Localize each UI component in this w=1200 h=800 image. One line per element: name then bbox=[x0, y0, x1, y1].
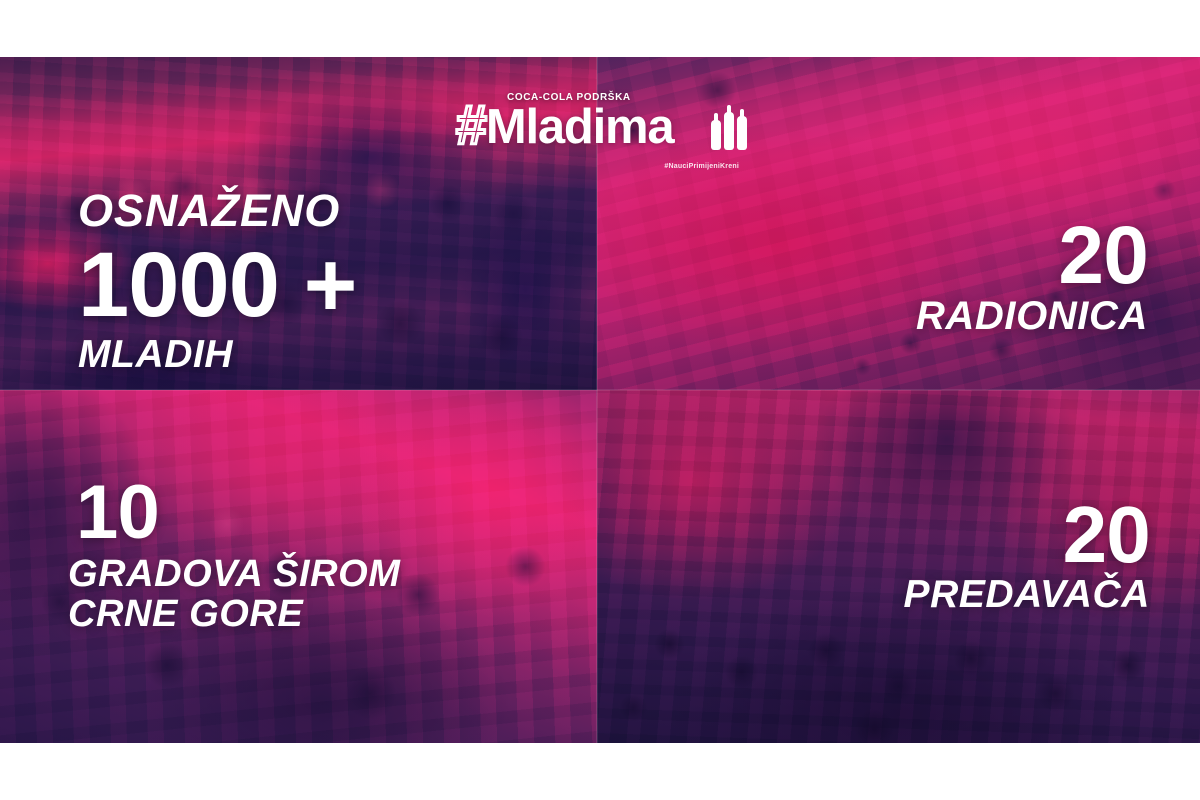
logo-wordmark-text: Mladima bbox=[486, 106, 673, 148]
stat-number-youth: 1000 + bbox=[78, 243, 356, 328]
stat-label-youth: MLADIH bbox=[78, 334, 356, 375]
stat-block-cities: 10 GRADOVA ŠIROM CRNE GORE bbox=[68, 478, 401, 634]
logo-tagline-text: #NauciPrimijeniKreni bbox=[664, 163, 739, 170]
stat-label-workshops: RADIONICA bbox=[916, 295, 1148, 337]
hashtag-icon: # bbox=[455, 103, 484, 148]
stat-number-speakers: 20 bbox=[903, 498, 1150, 572]
bottle-icon bbox=[724, 112, 734, 150]
stat-eyebrow-youth: OSNAŽENO bbox=[78, 188, 356, 233]
stat-block-youth: OSNAŽENO 1000 + MLADIH bbox=[78, 188, 356, 375]
poster-canvas: COCA-COLA PODRŠKA # Mladima #NauciPrimij… bbox=[0, 57, 1200, 743]
bottle-icon-group bbox=[711, 104, 747, 150]
stat-number-workshops: 20 bbox=[916, 218, 1148, 293]
stat-label-speakers: PREDAVAČA bbox=[903, 574, 1150, 615]
stat-label-cities-line2: CRNE GORE bbox=[68, 594, 401, 634]
logo-wordmark: # Mladima bbox=[455, 103, 673, 148]
bottle-icon bbox=[711, 120, 721, 150]
brand-logo-lockup: COCA-COLA PODRŠKA # Mladima #NauciPrimij… bbox=[455, 92, 745, 177]
stat-number-cities: 10 bbox=[68, 478, 401, 548]
stat-block-speakers: 20 PREDAVAČA bbox=[903, 498, 1150, 615]
bottle-icon bbox=[737, 116, 747, 150]
stat-label-cities-line1: GRADOVA ŠIROM bbox=[68, 554, 401, 594]
stat-block-workshops: 20 RADIONICA bbox=[916, 218, 1148, 338]
